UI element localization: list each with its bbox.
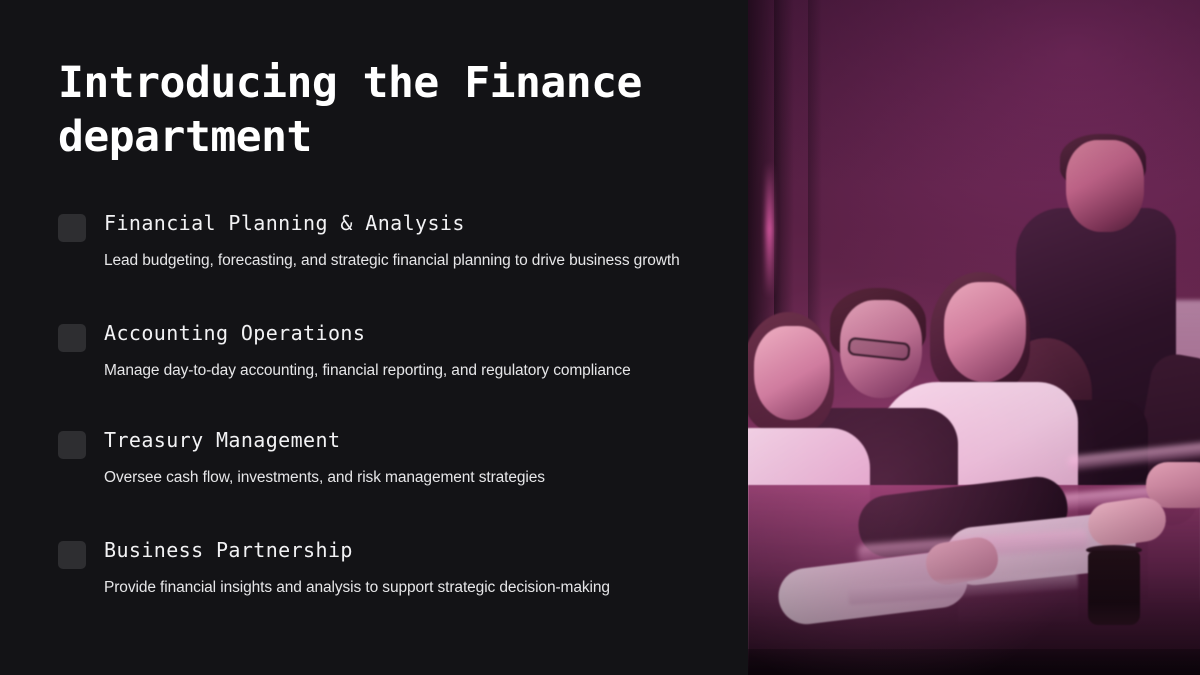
list-item-description: Oversee cash flow, investments, and risk… [104, 464, 690, 491]
list-item-body: Treasury Management Oversee cash flow, i… [104, 427, 690, 491]
feature-list: Financial Planning & Analysis Lead budge… [58, 210, 690, 601]
desk-front-edge [748, 649, 1200, 675]
placeholder-square-icon [58, 324, 86, 352]
list-item-description: Manage day-to-day accounting, financial … [104, 357, 690, 384]
slide-photo [748, 0, 1200, 675]
list-item: Accounting Operations Manage day-to-day … [58, 320, 690, 384]
person-standing-head [1066, 140, 1144, 232]
person-left-head [754, 326, 830, 420]
list-item: Financial Planning & Analysis Lead budge… [58, 210, 690, 274]
wall-shadow-band [808, 0, 822, 351]
coffee-cup [1088, 551, 1140, 625]
placeholder-square-icon [58, 431, 86, 459]
person-center-head [944, 282, 1026, 382]
list-item-heading: Financial Planning & Analysis [104, 210, 690, 237]
presentation-slide: Introducing the Finance department Finan… [0, 0, 1200, 675]
list-item: Business Partnership Provide financial i… [58, 537, 690, 601]
list-item-heading: Business Partnership [104, 537, 690, 564]
pink-light-strip [766, 162, 773, 297]
list-item-body: Business Partnership Provide financial i… [104, 537, 690, 601]
content-panel: Introducing the Finance department Finan… [0, 0, 748, 675]
list-item-body: Financial Planning & Analysis Lead budge… [104, 210, 690, 274]
wall-shadow-band [774, 0, 794, 351]
list-item-body: Accounting Operations Manage day-to-day … [104, 320, 690, 384]
placeholder-square-icon [58, 214, 86, 242]
list-item-heading: Treasury Management [104, 427, 690, 454]
list-item-heading: Accounting Operations [104, 320, 690, 347]
placeholder-square-icon [58, 541, 86, 569]
list-item: Treasury Management Oversee cash flow, i… [58, 427, 690, 491]
list-item-description: Lead budgeting, forecasting, and strateg… [104, 247, 690, 274]
page-title: Introducing the Finance department [58, 56, 658, 164]
list-item-description: Provide financial insights and analysis … [104, 574, 690, 601]
